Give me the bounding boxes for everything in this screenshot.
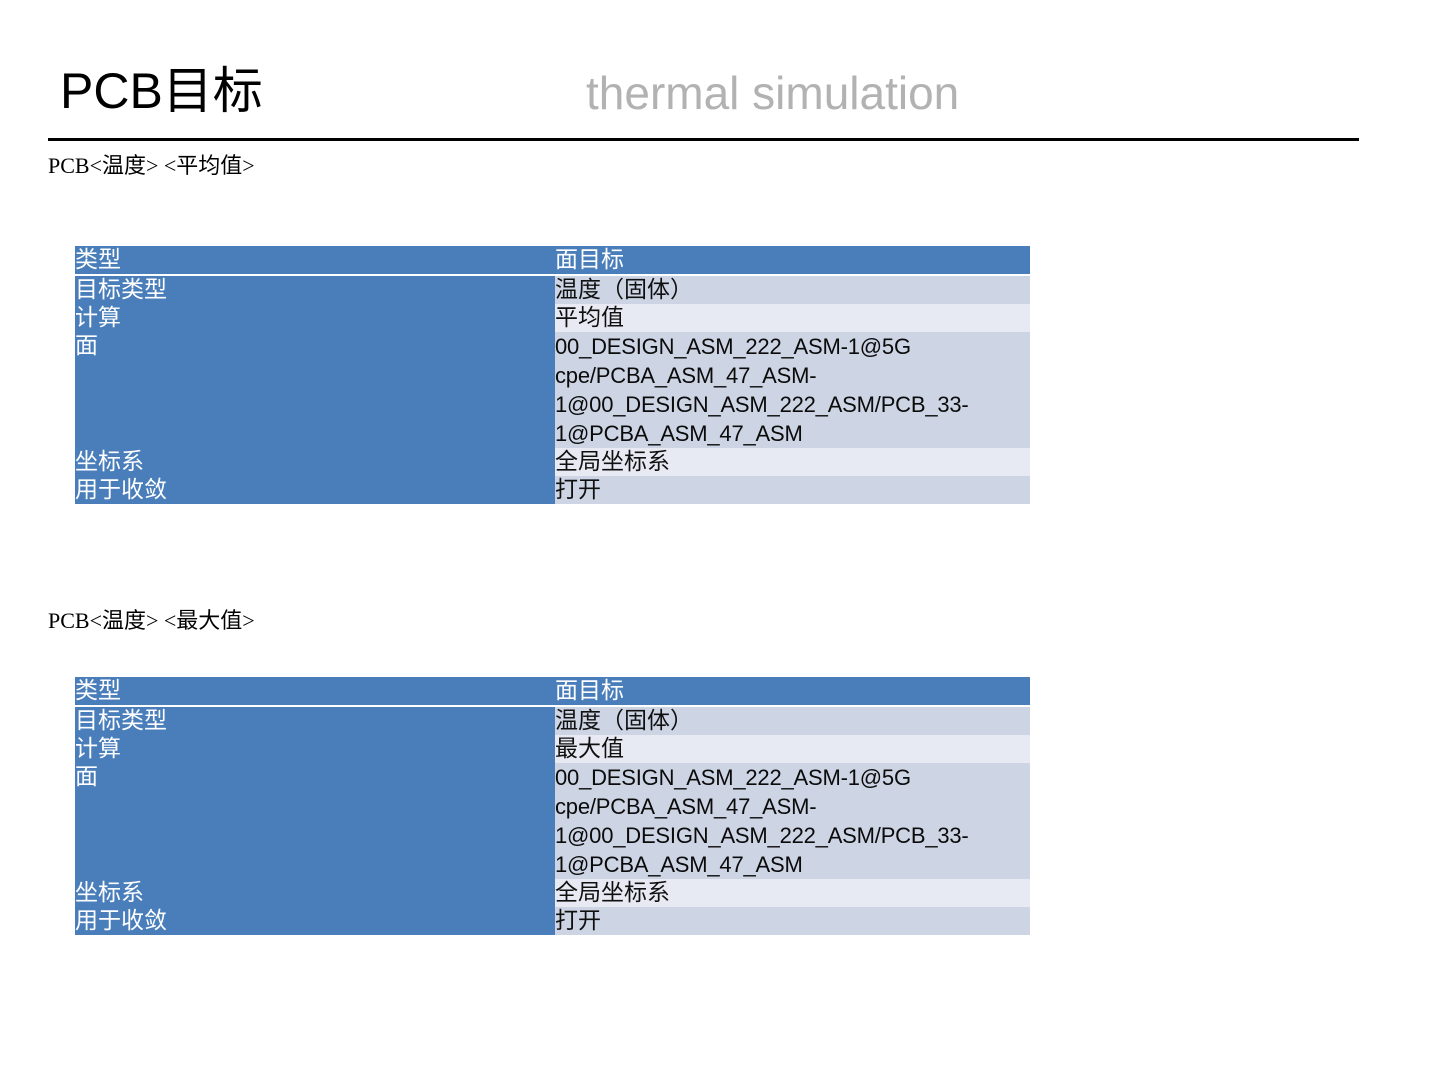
section-caption-average: PCB<温度> <平均值> <box>48 155 255 177</box>
row-value-use-for-convergence: 打开 <box>555 476 1030 504</box>
face-path-text: 00_DESIGN_ASM_222_ASM-1@5G cpe/PCBA_ASM_… <box>555 763 1030 879</box>
table-row: 计算 最大值 <box>75 735 1030 763</box>
row-label-coordinate-system: 坐标系 <box>75 879 555 907</box>
row-label-goal-type: 目标类型 <box>75 706 555 735</box>
face-path-text: 00_DESIGN_ASM_222_ASM-1@5G cpe/PCBA_ASM_… <box>555 332 1030 448</box>
table-row: 用于收敛 打开 <box>75 476 1030 504</box>
table-row: 目标类型 温度（固体） <box>75 275 1030 304</box>
page-title: PCB目标 <box>60 66 263 116</box>
table-header-row: 类型 面目标 <box>75 677 1030 706</box>
row-label-use-for-convergence: 用于收敛 <box>75 476 555 504</box>
row-value-use-for-convergence: 打开 <box>555 907 1030 935</box>
row-value-face: 00_DESIGN_ASM_222_ASM-1@5G cpe/PCBA_ASM_… <box>555 332 1030 448</box>
column-header-type: 类型 <box>75 677 555 706</box>
row-value-coordinate-system: 全局坐标系 <box>555 879 1030 907</box>
row-label-face: 面 <box>75 763 555 879</box>
row-value-coordinate-system: 全局坐标系 <box>555 448 1030 476</box>
row-value-goal-type: 温度（固体） <box>555 275 1030 304</box>
table-row: 面 00_DESIGN_ASM_222_ASM-1@5G cpe/PCBA_AS… <box>75 332 1030 448</box>
column-header-type: 类型 <box>75 246 555 275</box>
row-label-use-for-convergence: 用于收敛 <box>75 907 555 935</box>
table-row: 用于收敛 打开 <box>75 907 1030 935</box>
page-subtitle: thermal simulation <box>586 70 959 116</box>
table-row: 面 00_DESIGN_ASM_222_ASM-1@5G cpe/PCBA_AS… <box>75 763 1030 879</box>
row-label-calculation: 计算 <box>75 735 555 763</box>
goal-table-maximum: 类型 面目标 目标类型 温度（固体） 计算 最大值 面 00_DESIGN_AS… <box>75 677 1030 935</box>
table-row: 坐标系 全局坐标系 <box>75 879 1030 907</box>
row-value-calculation: 最大值 <box>555 735 1030 763</box>
row-label-coordinate-system: 坐标系 <box>75 448 555 476</box>
table-header-row: 类型 面目标 <box>75 246 1030 275</box>
title-divider-rule <box>48 138 1359 141</box>
column-header-value: 面目标 <box>555 246 1030 275</box>
row-label-calculation: 计算 <box>75 304 555 332</box>
section-caption-maximum: PCB<温度> <最大值> <box>48 610 255 632</box>
row-label-goal-type: 目标类型 <box>75 275 555 304</box>
table-row: 目标类型 温度（固体） <box>75 706 1030 735</box>
table-row: 坐标系 全局坐标系 <box>75 448 1030 476</box>
goal-table-average: 类型 面目标 目标类型 温度（固体） 计算 平均值 面 00_DESIGN_AS… <box>75 246 1030 504</box>
table-row: 计算 平均值 <box>75 304 1030 332</box>
column-header-value: 面目标 <box>555 677 1030 706</box>
row-label-face: 面 <box>75 332 555 448</box>
slide-header: PCB目标 thermal simulation <box>0 0 1440 145</box>
row-value-face: 00_DESIGN_ASM_222_ASM-1@5G cpe/PCBA_ASM_… <box>555 763 1030 879</box>
row-value-goal-type: 温度（固体） <box>555 706 1030 735</box>
row-value-calculation: 平均值 <box>555 304 1030 332</box>
